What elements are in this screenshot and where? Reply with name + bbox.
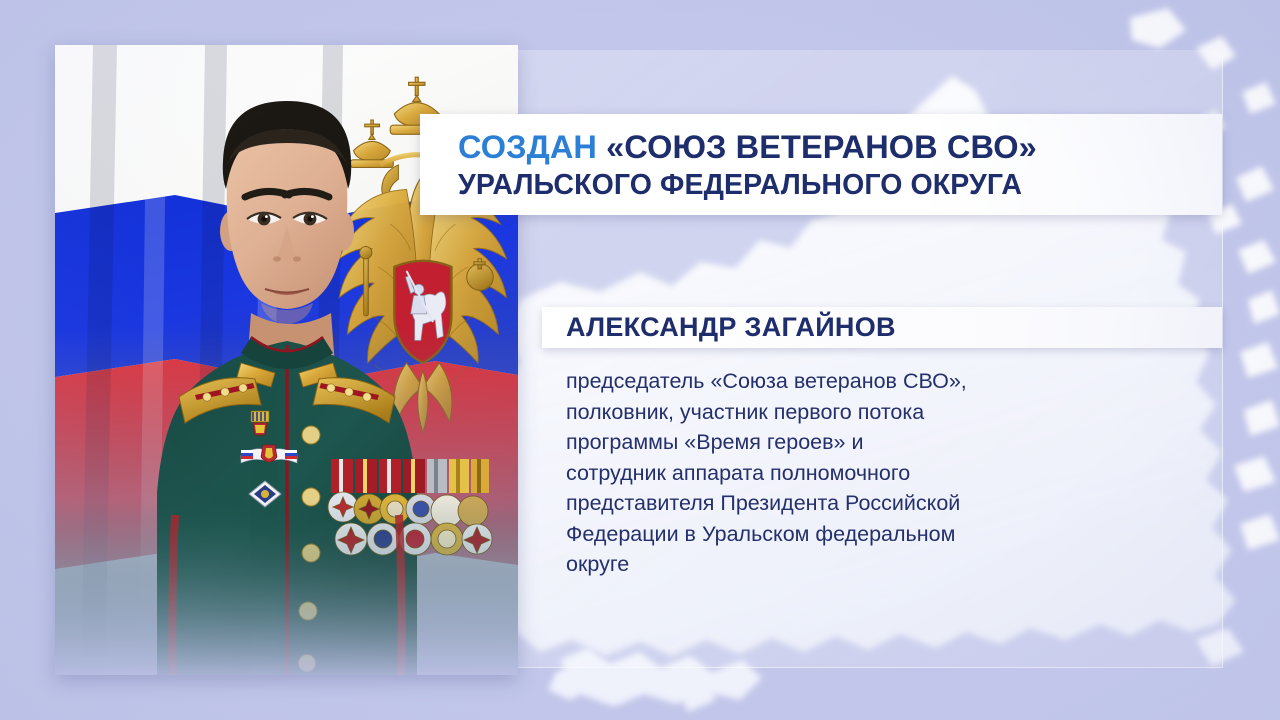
- person-name-bar: АЛЕКСАНДР ЗАГАЙНОВ: [542, 307, 1222, 348]
- headline-panel: СОЗДАН «СОЮЗ ВЕТЕРАНОВ СВО» УРАЛЬСКОГО Ф…: [420, 114, 1222, 215]
- person-description: председатель «Союза ветеранов СВО», полк…: [566, 366, 1166, 580]
- headline-highlight: СОЗДАН: [458, 129, 597, 165]
- headline-line-1-rest: «СОЮЗ ВЕТЕРАНОВ СВО»: [597, 129, 1037, 165]
- infographic-canvas: СОЗДАН «СОЮЗ ВЕТЕРАНОВ СВО» УРАЛЬСКОГО Ф…: [0, 0, 1280, 720]
- headline-line-2: УРАЛЬСКОГО ФЕДЕРАЛЬНОГО ОКРУГА: [458, 167, 1222, 203]
- person-description-text: председатель «Союза ветеранов СВО», полк…: [566, 366, 1166, 580]
- person-name: АЛЕКСАНДР ЗАГАЙНОВ: [566, 312, 896, 343]
- headline-line-1: СОЗДАН «СОЮЗ ВЕТЕРАНОВ СВО»: [458, 127, 1222, 167]
